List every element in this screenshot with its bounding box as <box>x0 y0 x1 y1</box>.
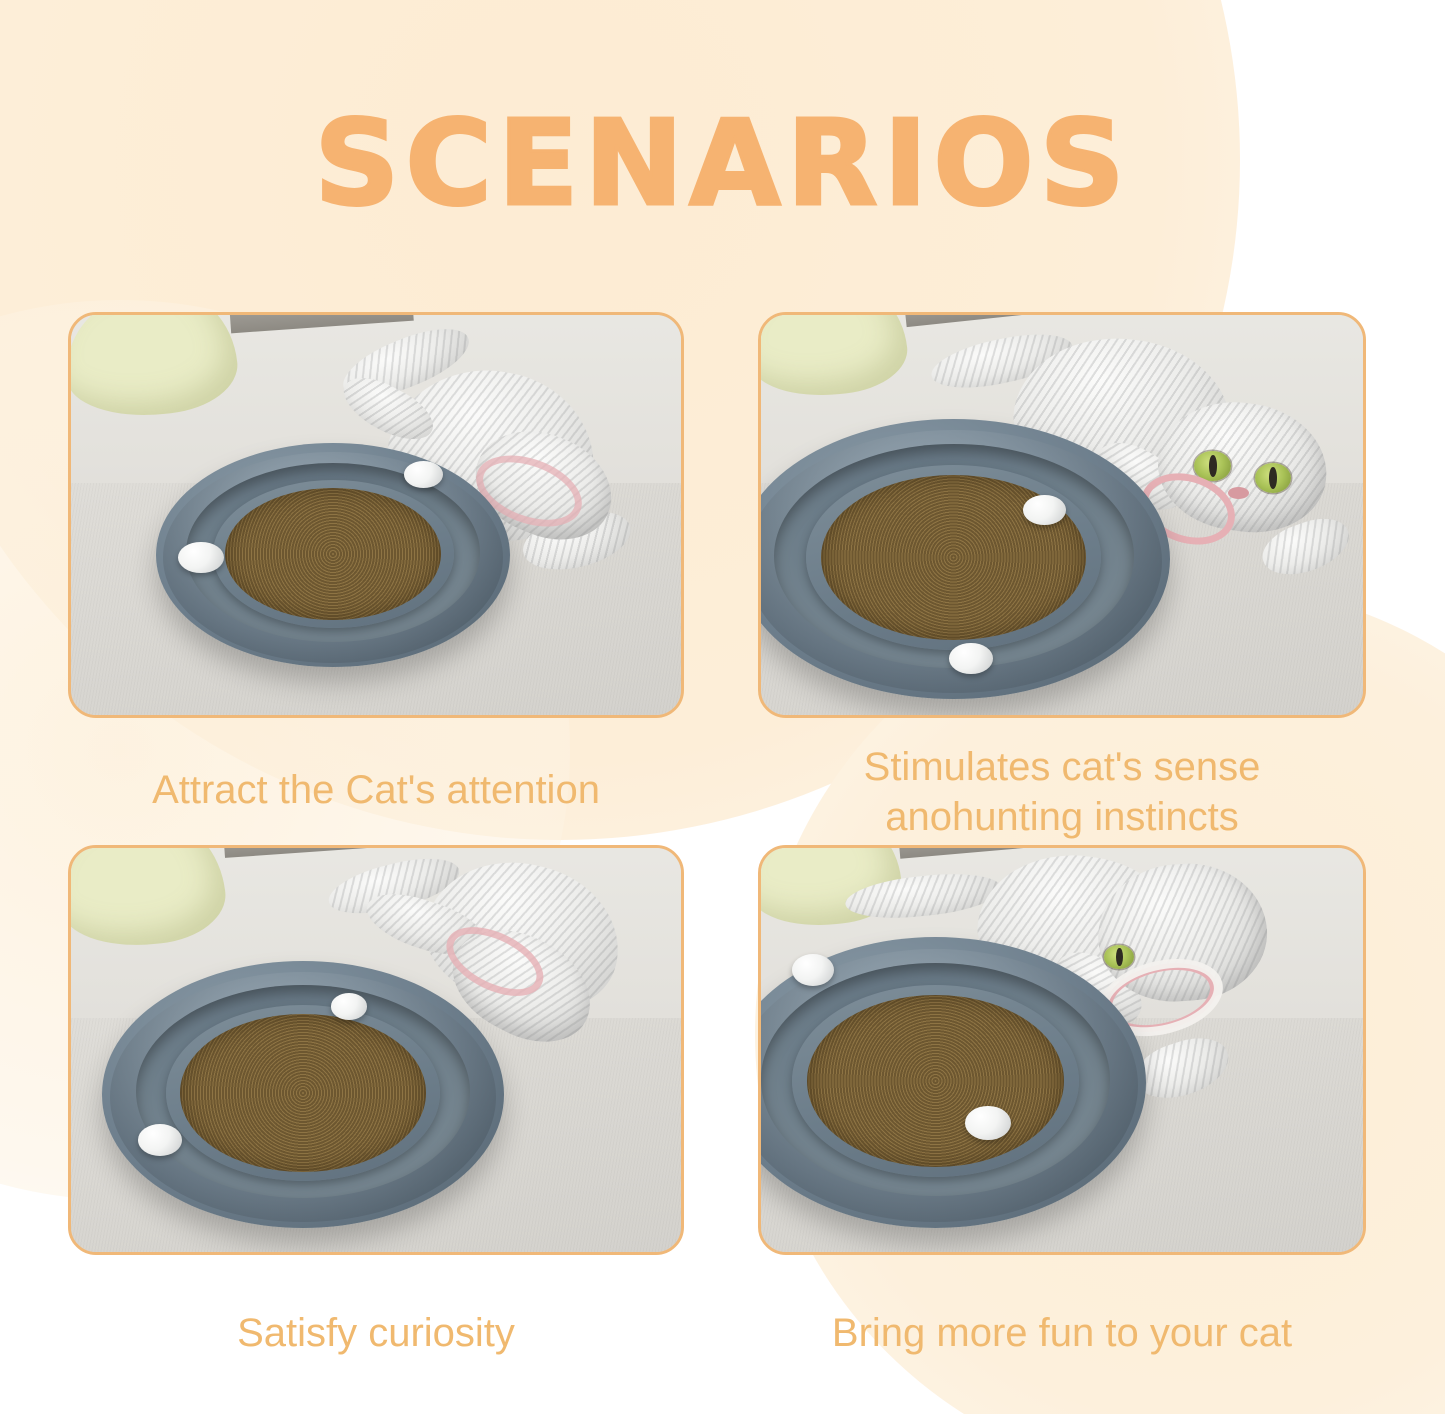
toy-ball <box>404 461 443 488</box>
scenario-caption-1: Attract the Cat's attention <box>68 765 684 815</box>
photo-scene-2 <box>761 315 1363 715</box>
cardboard-scratch-pad <box>180 1014 426 1171</box>
cat-scratcher-toy <box>761 937 1146 1228</box>
toy-ball <box>331 993 367 1020</box>
toy-ball <box>178 542 224 573</box>
scenarios-infographic: SCENARIOS <box>0 0 1445 1414</box>
toy-ball <box>949 643 992 674</box>
scenario-photo-1 <box>68 312 684 718</box>
scenario-photo-3 <box>68 845 684 1255</box>
scenario-caption-4: Bring more fun to your cat <box>758 1308 1366 1358</box>
scenario-photo-2 <box>758 312 1366 718</box>
cardboard-scratch-pad <box>807 995 1064 1167</box>
photo-scene-1 <box>71 315 681 715</box>
page-title: SCENARIOS <box>0 104 1445 222</box>
cat-scratcher-toy <box>761 419 1170 699</box>
scenario-caption-2-line-1: Stimulates cat's sense <box>758 742 1366 792</box>
scenario-photo-4 <box>758 845 1366 1255</box>
scenario-caption-3: Satisfy curiosity <box>68 1308 684 1358</box>
cat-nose <box>1228 487 1249 499</box>
scenario-caption-2: Stimulates cat's sense anohunting instin… <box>758 742 1366 842</box>
photo-scene-3 <box>71 848 681 1252</box>
cardboard-scratch-pad <box>225 488 441 620</box>
scenario-caption-2-line-2: anohunting instincts <box>758 792 1366 842</box>
cat-scratcher-toy <box>156 443 510 667</box>
cat-scratcher-toy <box>102 961 505 1228</box>
toy-ball <box>138 1124 182 1156</box>
cat-eye-right <box>1255 463 1291 493</box>
photo-scene-4 <box>761 848 1363 1252</box>
